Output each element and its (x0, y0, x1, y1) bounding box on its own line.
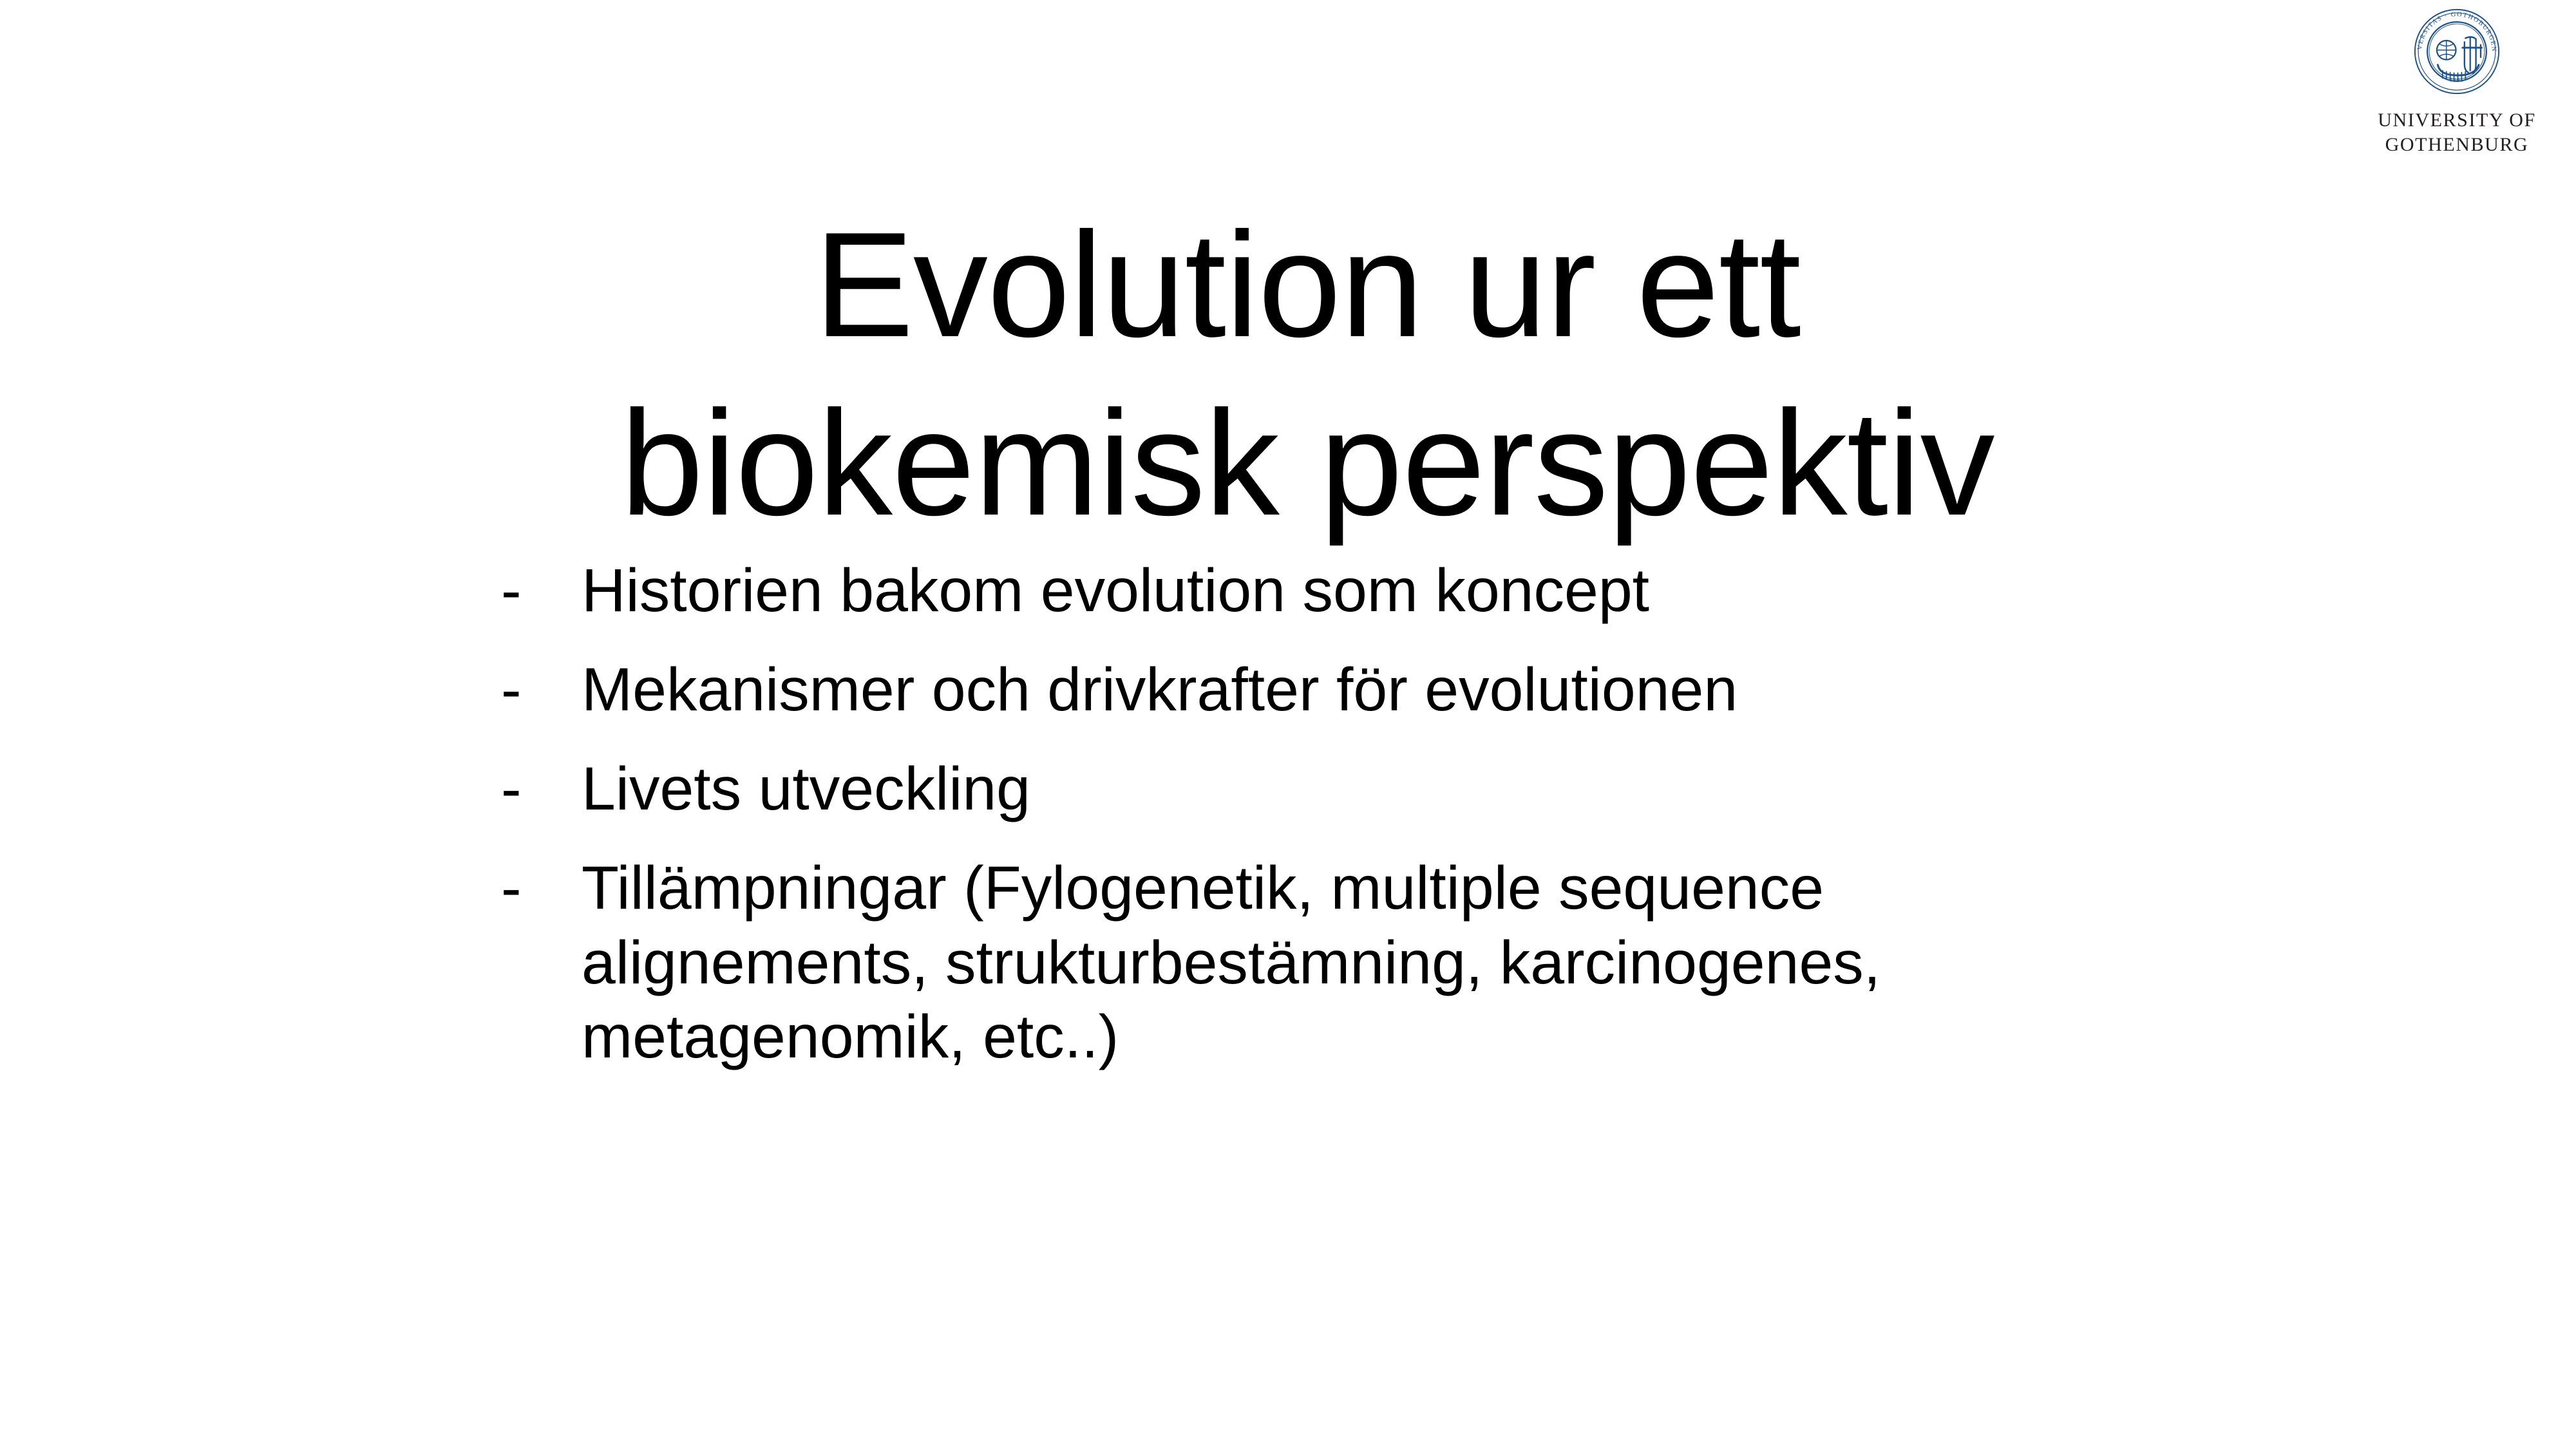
bullet-text: Livets utveckling (582, 752, 2183, 827)
presentation-slide: UNIVERSITAS · GOTHOBURGENSIS · 1891 · (0, 0, 2576, 1449)
bullet-dash-icon: - (496, 752, 582, 827)
university-seal-icon: UNIVERSITAS · GOTHOBURGENSIS · 1891 · (2409, 4, 2505, 99)
bullet-text: Tillämpningar (Fylogenetik, multiple seq… (582, 851, 2183, 1075)
slide-title-line-1: Evolution ur ett (335, 196, 2280, 374)
wordmark-line-1: UNIVERSITY OF (2378, 108, 2536, 133)
wordmark-line-2: GOTHENBURG (2378, 133, 2536, 157)
slide-bullet-list: - Historien bakom evolution som koncept … (496, 554, 2183, 1075)
list-item: - Livets utveckling (496, 752, 2183, 827)
bullet-dash-icon: - (496, 653, 582, 728)
bullet-text: Historien bakom evolution som koncept (582, 554, 2183, 629)
slide-title: Evolution ur ett biokemisk perspektiv (335, 196, 2280, 552)
list-item: - Tillämpningar (Fylogenetik, multiple s… (496, 851, 2183, 1075)
bullet-text: Mekanismer och drivkrafter för evolution… (582, 653, 2183, 728)
university-wordmark: UNIVERSITY OF GOTHENBURG (2378, 108, 2536, 158)
bullet-dash-icon: - (496, 851, 582, 926)
list-item: - Mekanismer och drivkrafter för evoluti… (496, 653, 2183, 728)
university-logo: UNIVERSITAS · GOTHOBURGENSIS · 1891 · (2354, 4, 2560, 158)
list-item: - Historien bakom evolution som koncept (496, 554, 2183, 629)
slide-title-line-2: biokemisk perspektiv (335, 375, 2280, 553)
bullet-dash-icon: - (496, 554, 582, 629)
